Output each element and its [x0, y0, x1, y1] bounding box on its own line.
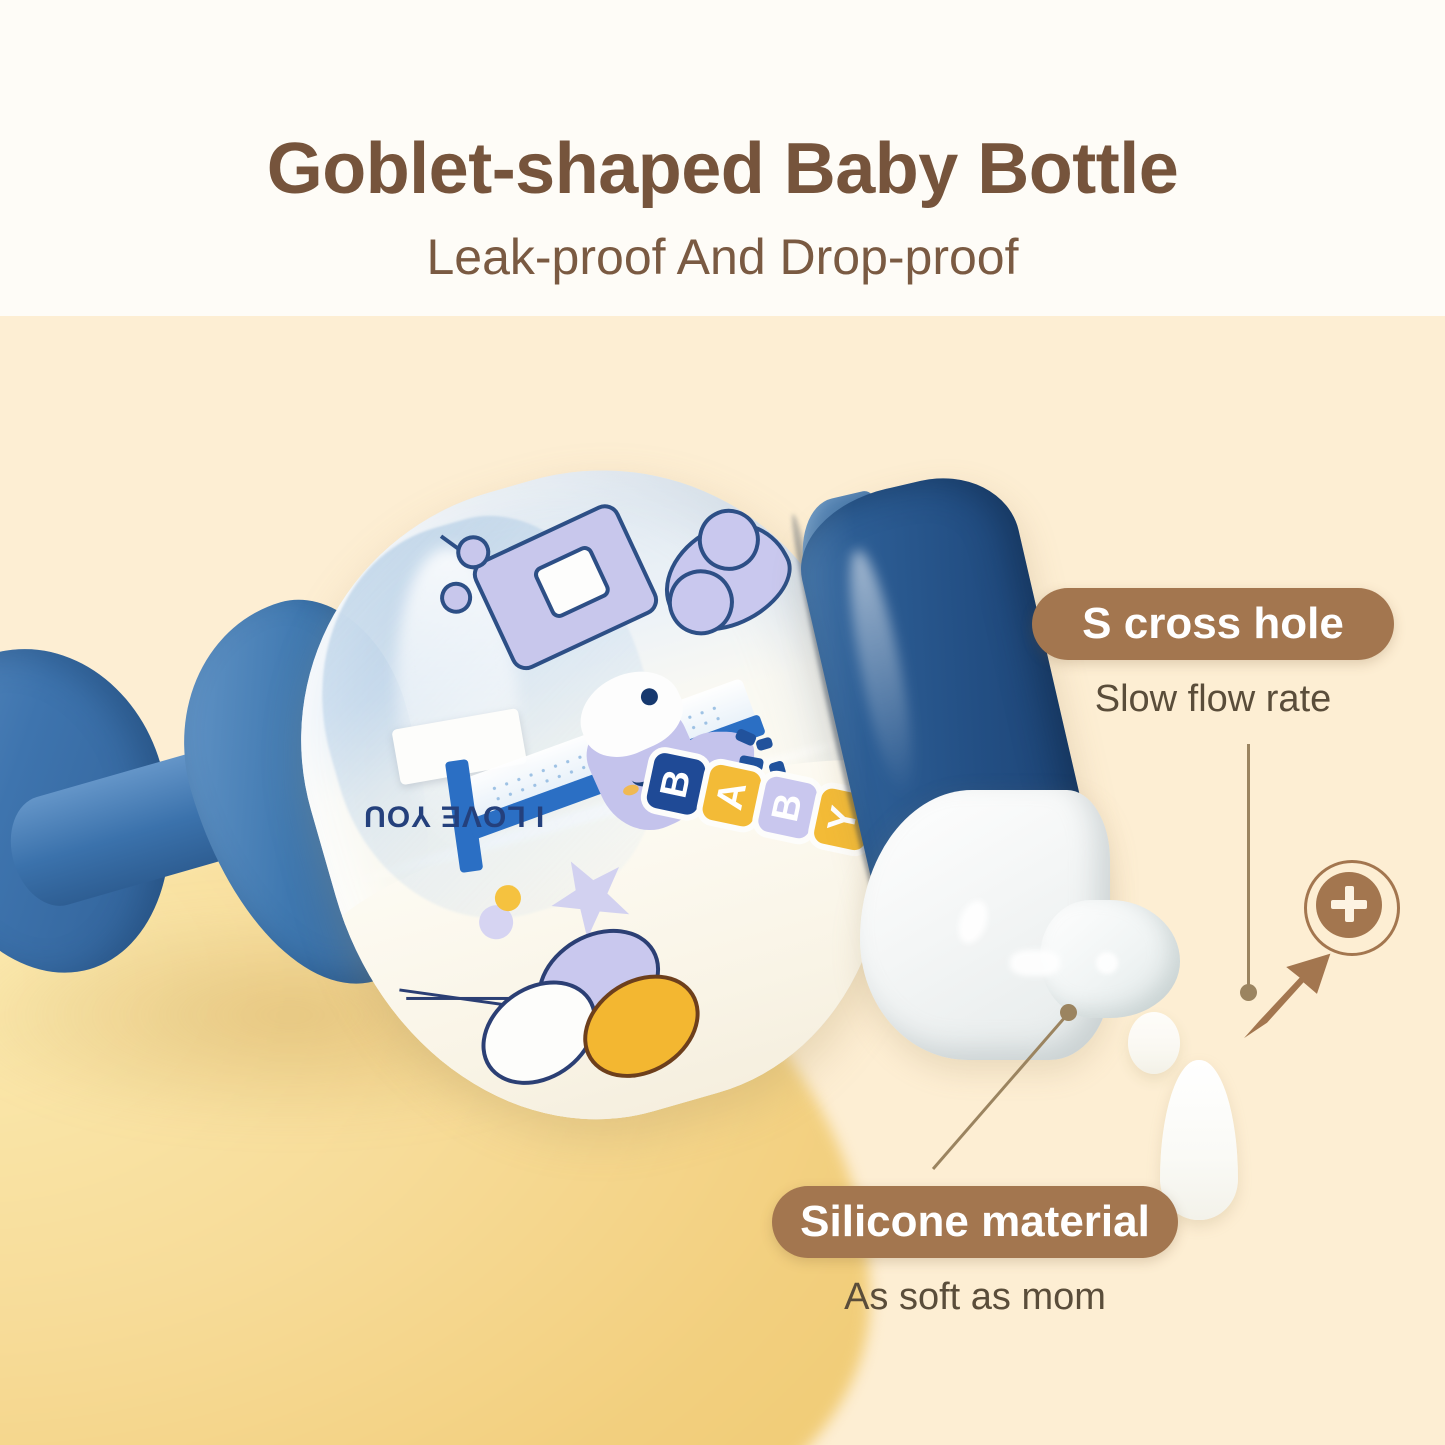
letter-block-b1: B	[645, 751, 708, 817]
nipple-highlight	[1096, 952, 1118, 974]
cloud-sticker	[645, 502, 807, 651]
callout-caption-silicone-material: As soft as mom	[772, 1276, 1178, 1319]
page-title: Goblet-shaped Baby Bottle	[0, 128, 1445, 210]
callout-pill-s-cross-hole: S cross hole	[1032, 588, 1394, 660]
letter-block-b2: B	[756, 775, 819, 841]
leader-dot-silicone-material	[1060, 1004, 1077, 1021]
callout-caption-s-cross-hole: Slow flow rate	[1032, 678, 1394, 721]
callout-pill-silicone-material: Silicone material	[772, 1186, 1178, 1258]
product-infographic: I LOVE YOU B A B Y Goblet-shaped Baby Bo…	[0, 0, 1445, 1445]
arrow-cursor-icon	[1244, 944, 1340, 1040]
milk-drop-large	[1160, 1060, 1238, 1220]
slogan-decal: I LOVE YOU	[304, 799, 544, 833]
page-subtitle: Leak-proof And Drop-proof	[0, 228, 1445, 286]
plus-icon	[1345, 886, 1354, 922]
milk-drop-small	[1128, 1012, 1180, 1074]
letter-block-a: A	[701, 763, 764, 829]
nipple-highlight	[1010, 950, 1060, 976]
